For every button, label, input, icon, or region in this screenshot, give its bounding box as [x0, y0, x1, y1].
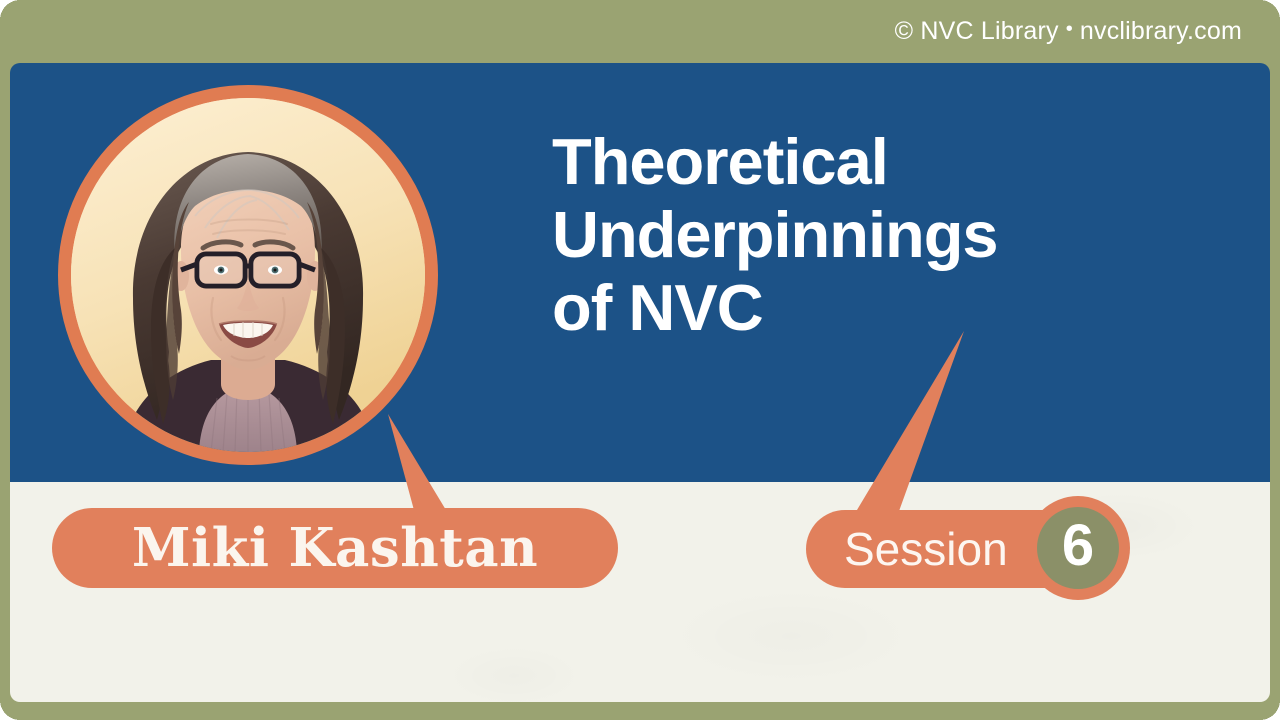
attribution-bar: © NVC Library • nvclibrary.com: [0, 0, 1280, 63]
copyright-text: © NVC Library: [895, 17, 1059, 46]
website-link[interactable]: nvclibrary.com: [1080, 17, 1242, 46]
session-label: Session: [844, 522, 1008, 576]
presenter-name-label: Miki Kashtan: [132, 517, 538, 579]
bullet-separator-icon: •: [1066, 18, 1073, 41]
corner-mask-bottom-left: [0, 700, 20, 720]
session-number-label: 6: [1062, 517, 1094, 575]
page-title: Theoretical Underpinnings of NVC: [552, 126, 1152, 344]
presenter-name-badge: Miki Kashtan: [52, 508, 618, 588]
session-number-disc: 6: [1037, 507, 1119, 589]
slide-canvas: © NVC Library • nvclibrary.com Theoretic…: [0, 0, 1280, 720]
title-line-1: Theoretical: [552, 126, 1152, 199]
avatar-photo: [71, 98, 425, 452]
corner-mask-bottom-right: [1260, 700, 1280, 720]
session-number-badge: 6: [1026, 496, 1130, 600]
session-bubble-tail-icon: [840, 325, 990, 525]
portrait-illustration: [71, 98, 425, 452]
name-bubble-tail-icon: [330, 400, 490, 525]
title-line-2: Underpinnings: [552, 199, 1152, 272]
